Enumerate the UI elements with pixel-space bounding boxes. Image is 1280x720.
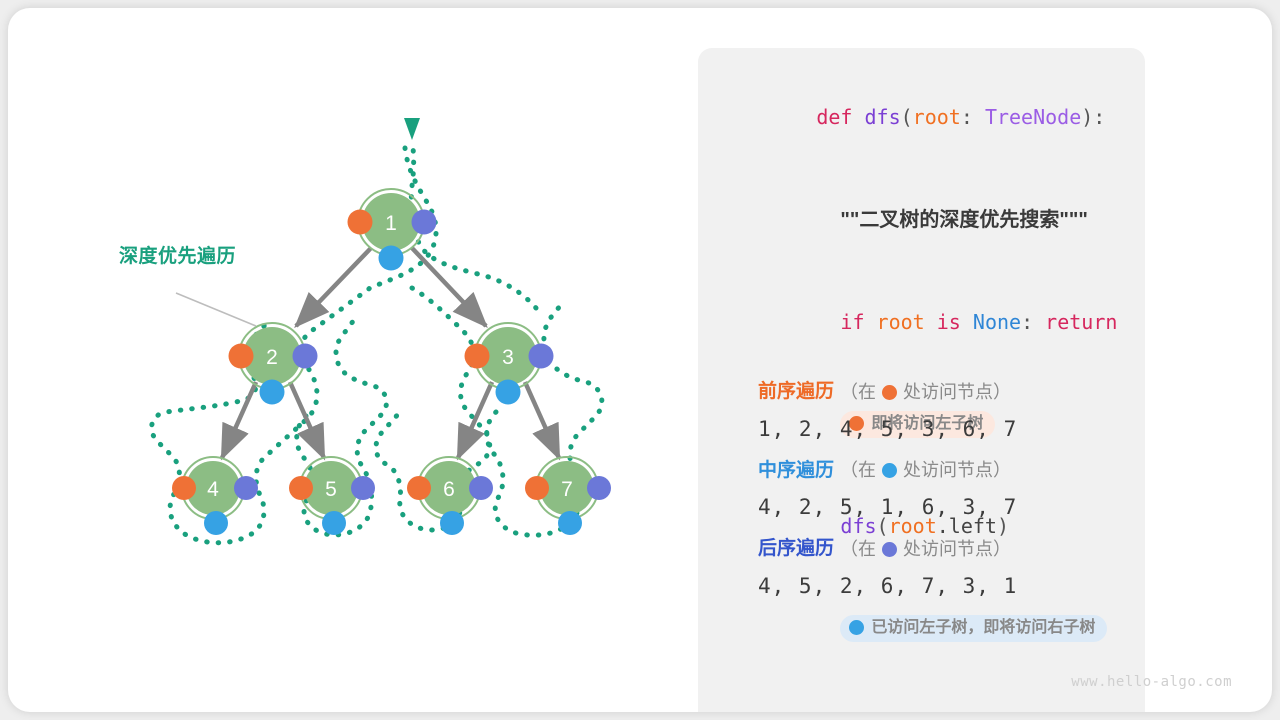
edge-2-5 [290, 382, 324, 458]
docstring-text: ""二叉树的深度优先搜索""" [840, 209, 1087, 231]
edge-2-4 [222, 382, 256, 458]
preorder-legend-dot-icon [882, 385, 897, 400]
keyword-is: is [937, 310, 961, 334]
postorder-name: 后序遍历 [758, 535, 834, 564]
preorder-note-close: 处访问节点） [903, 379, 1011, 406]
node-3-marker-post [529, 344, 554, 369]
annotation-pill-inorder: 已访问左子树，即将访问右子树 [840, 615, 1107, 642]
inorder-note-close: 处访问节点） [903, 457, 1011, 484]
node-5-value: 5 [325, 478, 337, 501]
node-5-marker-post [351, 476, 375, 500]
close-paren-colon: ): [1081, 105, 1105, 129]
node-6-marker-in [440, 511, 464, 535]
screenshot-canvas: 1 2 3 [0, 0, 1280, 720]
code-line-guard: if root is None: return [720, 271, 1123, 373]
tree-node-5[interactable]: 5 [289, 457, 375, 535]
code-line-call-right: dfs(root.right) [720, 679, 1123, 712]
node-5-marker-pre [289, 476, 313, 500]
node-7-marker-post [587, 476, 611, 500]
dfs-start-arrow-icon [404, 118, 420, 140]
preorder-note-open: （在 [840, 379, 876, 406]
inorder-legend-dot-icon [882, 463, 897, 478]
node-5-marker-in [322, 511, 346, 535]
annotation-in-text: 已访问左子树，即将访问右子树 [871, 616, 1095, 640]
node-1-marker-post [412, 210, 437, 235]
node-2-value: 2 [266, 346, 278, 369]
inorder-heading: 中序遍历 （在 处访问节点） [758, 457, 1178, 486]
node-6-marker-pre [407, 476, 431, 500]
postorder-note-close: 处访问节点） [903, 536, 1011, 563]
traversal-group-postorder: 后序遍历 （在 处访问节点） 4, 5, 2, 6, 7, 3, 1 [758, 535, 1178, 598]
dfs-traversal-label: 深度优先遍历 [119, 241, 236, 268]
keyword-if: if [840, 310, 864, 334]
tree-node-6[interactable]: 6 [407, 457, 493, 535]
tree-svg: 1 2 3 [8, 8, 668, 712]
node-3-marker-in [496, 380, 521, 405]
inorder-dot-icon [849, 620, 864, 635]
binary-tree-diagram: 1 2 3 [8, 8, 668, 712]
inorder-note-open: （在 [840, 457, 876, 484]
traversal-group-preorder: 前序遍历 （在 处访问节点） 1, 2, 4, 5, 3, 6, 7 [758, 378, 1178, 441]
node-1-value: 1 [385, 212, 397, 235]
node-1-marker-pre [348, 210, 373, 235]
param-root: root [913, 105, 961, 129]
node-7-marker-pre [525, 476, 549, 500]
node-6-marker-post [469, 476, 493, 500]
traversal-group-inorder: 中序遍历 （在 处访问节点） 4, 2, 5, 1, 6, 3, 7 [758, 457, 1178, 520]
preorder-sequence: 1, 2, 4, 5, 3, 6, 7 [758, 417, 1178, 441]
node-4-marker-pre [172, 476, 196, 500]
watermark: www.hello-algo.com [1071, 674, 1232, 690]
node-6-value: 6 [443, 478, 455, 501]
preorder-heading: 前序遍历 （在 处访问节点） [758, 378, 1178, 407]
dfs-label-leader-line [176, 293, 256, 326]
keyword-return: return [1045, 310, 1117, 334]
inorder-name: 中序遍历 [758, 457, 834, 486]
postorder-note-open: （在 [840, 536, 876, 563]
open-paren: ( [901, 105, 913, 129]
postorder-sequence: 4, 5, 2, 6, 7, 3, 1 [758, 574, 1178, 598]
node-4-marker-in [204, 511, 228, 535]
node-2-marker-post [293, 344, 318, 369]
node-3-marker-pre [465, 344, 490, 369]
postorder-legend-dot-icon [882, 542, 897, 557]
node-7-value: 7 [561, 478, 573, 501]
node-4-marker-post [234, 476, 258, 500]
node-3-value: 3 [502, 346, 514, 369]
param-colon: : [961, 105, 985, 129]
type-treenode: TreeNode [985, 105, 1081, 129]
code-line-docstring: ""二叉树的深度优先搜索""" [720, 168, 1123, 271]
tree-node-4[interactable]: 4 [172, 457, 258, 535]
node-4-value: 4 [207, 478, 219, 501]
postorder-heading: 后序遍历 （在 处访问节点） [758, 535, 1178, 564]
edge-3-7 [525, 382, 559, 458]
keyword-def: def [816, 105, 852, 129]
function-name: dfs [865, 105, 901, 129]
node-2-marker-pre [229, 344, 254, 369]
tree-node-3[interactable]: 3 [465, 323, 554, 405]
node-2-marker-in [260, 380, 285, 405]
node-7-marker-in [558, 511, 582, 535]
literal-none: None [973, 310, 1021, 334]
inorder-sequence: 4, 2, 5, 1, 6, 3, 7 [758, 495, 1178, 519]
tree-node-7[interactable]: 7 [525, 457, 611, 535]
guard-colon: : [1021, 310, 1033, 334]
node-1-marker-in [379, 246, 404, 271]
preorder-name: 前序遍历 [758, 378, 834, 407]
edge-3-6 [458, 382, 492, 458]
guard-var-root: root [877, 310, 925, 334]
traversal-legend: 前序遍历 （在 处访问节点） 1, 2, 4, 5, 3, 6, 7 中序遍历 … [758, 378, 1178, 614]
code-line-signature: def dfs(root: TreeNode): [720, 66, 1123, 168]
diagram-card: 1 2 3 [8, 8, 1272, 712]
